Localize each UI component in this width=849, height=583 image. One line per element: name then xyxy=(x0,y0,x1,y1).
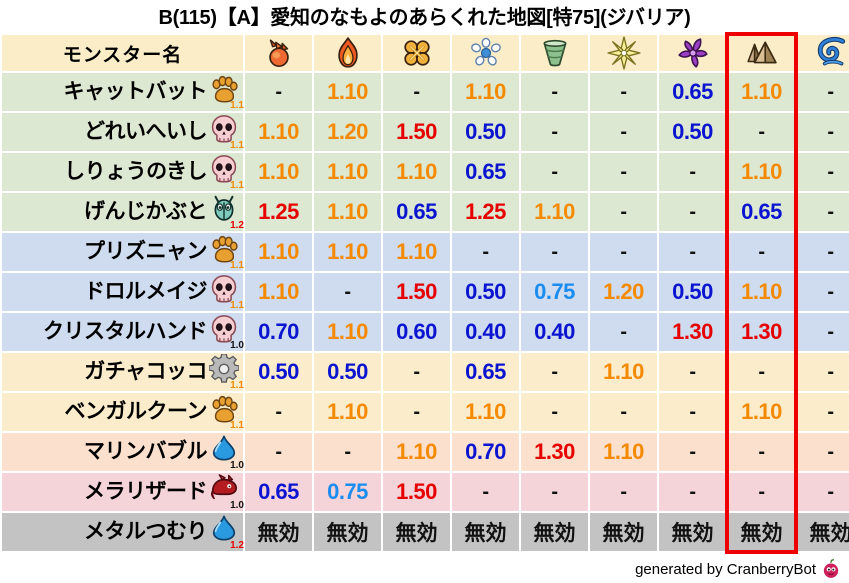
resistance-cell: 1.30 xyxy=(728,313,795,351)
monster-name-cell[interactable]: メラリザード 1.0 xyxy=(2,473,243,511)
resistance-cell: 1.10 xyxy=(728,153,795,191)
resistance-cell: - xyxy=(797,353,849,391)
monster-name-label: キャットバット xyxy=(64,73,208,111)
monster-name-cell[interactable]: どれいへいし 1.1 xyxy=(2,113,243,151)
resistance-cell: 1.25 xyxy=(452,193,519,231)
resistance-cell: - xyxy=(659,153,726,191)
table-row: プリズニャン 1.11.101.101.10------ xyxy=(2,233,849,271)
footer-text: generated by CranberryBot xyxy=(635,561,816,578)
monster-name-cell[interactable]: プリズニャン 1.1 xyxy=(2,233,243,271)
monster-family-badge: 1.0 xyxy=(209,435,243,469)
resistance-cell: 0.50 xyxy=(314,353,381,391)
resistance-cell: 1.30 xyxy=(659,313,726,351)
table-row: しりょうのきし 1.11.101.101.100.65---1.10- xyxy=(2,153,849,191)
resistance-cell: - xyxy=(245,433,312,471)
resistance-cell: 1.10 xyxy=(728,73,795,111)
table-header-row: モンスター名 xyxy=(2,35,849,71)
resistance-cell: 1.50 xyxy=(383,113,450,151)
table-row: クリスタルハンド 1.00.701.100.600.400.40-1.301.3… xyxy=(2,313,849,351)
resistance-cell: 1.30 xyxy=(521,433,588,471)
monster-name-cell[interactable]: マリンバブル 1.0 xyxy=(2,433,243,471)
monster-version-label: 1.1 xyxy=(230,301,244,311)
resistance-cell: - xyxy=(659,473,726,511)
monster-name-label: ベンガルクーン xyxy=(65,393,207,431)
resistance-cell: - xyxy=(452,473,519,511)
explosion-icon xyxy=(400,36,434,70)
monster-name-cell[interactable]: クリスタルハンド 1.0 xyxy=(2,313,243,351)
resistance-cell: - xyxy=(245,73,312,111)
column-header-ice[interactable] xyxy=(452,35,519,71)
resistance-cell: - xyxy=(521,353,588,391)
resistance-cell: 1.10 xyxy=(590,353,657,391)
resistance-cell: - xyxy=(590,113,657,151)
table-row: げんじかぶと 1.21.251.100.651.251.10--0.65- xyxy=(2,193,849,231)
resistance-cell: 0.65 xyxy=(659,73,726,111)
monster-version-label: 1.1 xyxy=(230,421,244,431)
column-header-flame[interactable] xyxy=(314,35,381,71)
column-header-meteor[interactable] xyxy=(245,35,312,71)
resistance-cell: - xyxy=(728,113,795,151)
column-header-wind[interactable] xyxy=(521,35,588,71)
resistance-cell: - xyxy=(521,73,588,111)
resistance-cell: - xyxy=(590,233,657,271)
resistance-cell: - xyxy=(383,353,450,391)
table-row: メタルつむり 1.2無効無効無効無効無効無効無効無効無効 xyxy=(2,513,849,551)
resistance-cell: - xyxy=(452,233,519,271)
resistance-cell: 無効 xyxy=(521,513,588,551)
resistance-cell: 1.50 xyxy=(383,273,450,311)
monster-name-label: メラリザード xyxy=(84,473,207,511)
monster-name-label: クリスタルハンド xyxy=(43,313,207,351)
dark-icon xyxy=(676,36,710,70)
resistance-cell: - xyxy=(797,473,849,511)
resistance-cell: - xyxy=(521,393,588,431)
resistance-cell: 無効 xyxy=(590,513,657,551)
monster-name-label: しりょうのきし xyxy=(64,153,207,191)
resistance-cell: - xyxy=(728,433,795,471)
resistance-cell: - xyxy=(521,473,588,511)
resistance-cell: 1.10 xyxy=(314,393,381,431)
table-row: ベンガルクーン 1.1-1.10-1.10---1.10- xyxy=(2,393,849,431)
resistance-cell: 無効 xyxy=(452,513,519,551)
resistance-cell: 0.50 xyxy=(452,113,519,151)
monster-version-label: 1.2 xyxy=(230,221,244,231)
resistance-cell: - xyxy=(521,153,588,191)
monster-name-cell[interactable]: ベンガルクーン 1.1 xyxy=(2,393,243,431)
resistance-cell: 0.65 xyxy=(728,193,795,231)
resistance-cell: 無効 xyxy=(797,513,849,551)
table-row: どれいへいし 1.11.101.201.500.50--0.50-- xyxy=(2,113,849,151)
monster-family-badge: 1.1 xyxy=(209,395,243,429)
monster-name-label: ガチャコッコ xyxy=(84,353,207,391)
resistance-cell: 1.10 xyxy=(383,433,450,471)
resistance-cell: - xyxy=(383,73,450,111)
resistance-cell: 0.70 xyxy=(452,433,519,471)
resistance-cell: 無効 xyxy=(314,513,381,551)
wind-icon xyxy=(538,36,572,70)
resistance-cell: 1.10 xyxy=(245,233,312,271)
element-resistance-chart: B(115)【A】愛知のなもよのあらくれた地図[特75](ジバリア) モンスター… xyxy=(0,0,849,583)
resistance-cell: 無効 xyxy=(383,513,450,551)
resistance-cell: 1.10 xyxy=(521,193,588,231)
resistance-cell: 無効 xyxy=(728,513,795,551)
resistance-cell: 0.50 xyxy=(659,273,726,311)
resistance-cell: 1.10 xyxy=(728,273,795,311)
resistance-cell: - xyxy=(383,393,450,431)
resistance-cell: - xyxy=(659,353,726,391)
water-icon xyxy=(814,36,848,70)
resistance-cell: 1.10 xyxy=(314,193,381,231)
resistance-cell: 1.10 xyxy=(314,153,381,191)
resistance-cell: - xyxy=(314,273,381,311)
resistance-cell: - xyxy=(521,113,588,151)
monster-version-label: 1.1 xyxy=(230,181,244,191)
resistance-cell: - xyxy=(590,313,657,351)
monster-name-cell[interactable]: げんじかぶと 1.2 xyxy=(2,193,243,231)
column-header-water[interactable] xyxy=(797,35,849,71)
resistance-cell: 1.10 xyxy=(245,273,312,311)
resistance-cell: - xyxy=(797,193,849,231)
monster-name-cell[interactable]: ガチャコッコ 1.1 xyxy=(2,353,243,391)
monster-version-label: 1.0 xyxy=(230,341,244,351)
resistance-cell: - xyxy=(797,393,849,431)
ice-icon xyxy=(469,36,503,70)
table-row: ドロルメイジ 1.11.10-1.500.500.751.200.501.10- xyxy=(2,273,849,311)
resistance-cell: 1.10 xyxy=(245,113,312,151)
resistance-cell: 0.65 xyxy=(452,153,519,191)
monster-family-badge: 1.2 xyxy=(209,195,243,229)
resistance-cell: 1.10 xyxy=(728,393,795,431)
resistance-cell: - xyxy=(797,73,849,111)
monster-name-cell[interactable]: しりょうのきし 1.1 xyxy=(2,153,243,191)
resistance-cell: 0.65 xyxy=(245,473,312,511)
monster-family-badge: 1.1 xyxy=(209,235,243,269)
monster-name-label: ドロルメイジ xyxy=(84,273,207,311)
monster-family-badge: 1.1 xyxy=(209,115,243,149)
resistance-cell: - xyxy=(728,233,795,271)
monster-version-label: 1.1 xyxy=(230,141,244,151)
resistance-cell: 1.25 xyxy=(245,193,312,231)
resistance-cell: 0.75 xyxy=(521,273,588,311)
monster-version-label: 1.0 xyxy=(230,461,244,471)
monster-family-badge: 1.1 xyxy=(209,355,243,389)
flame-icon xyxy=(331,36,365,70)
resistance-cell: - xyxy=(590,153,657,191)
resistance-cell: 0.50 xyxy=(245,353,312,391)
monster-name-cell[interactable]: ドロルメイジ 1.1 xyxy=(2,273,243,311)
table-row: マリンバブル 1.0--1.100.701.301.10--- xyxy=(2,433,849,471)
column-header-earth[interactable] xyxy=(728,35,795,71)
resistance-cell: - xyxy=(797,233,849,271)
monster-version-label: 1.0 xyxy=(230,501,244,511)
meteor-icon xyxy=(262,36,296,70)
table-row: キャットバット 1.1-1.10-1.10--0.651.10- xyxy=(2,73,849,111)
resistance-cell: 0.65 xyxy=(383,193,450,231)
resistance-cell: 0.75 xyxy=(314,473,381,511)
monster-family-badge: 1.2 xyxy=(209,515,243,549)
resistance-cell: 0.65 xyxy=(452,353,519,391)
resistance-cell: - xyxy=(590,473,657,511)
resistance-cell: 1.50 xyxy=(383,473,450,511)
monster-family-badge: 1.0 xyxy=(209,315,243,349)
resistance-cell: 1.10 xyxy=(245,153,312,191)
monster-version-label: 1.2 xyxy=(230,541,244,551)
column-header-monster-name: モンスター名 xyxy=(2,35,243,71)
resistance-cell: 0.60 xyxy=(383,313,450,351)
resistance-cell: - xyxy=(728,353,795,391)
resistance-cell: - xyxy=(659,233,726,271)
column-header-explosion[interactable] xyxy=(383,35,450,71)
monster-name-label: げんじかぶと xyxy=(84,193,207,231)
resistance-cell: - xyxy=(314,433,381,471)
resistance-cell: - xyxy=(797,113,849,151)
resistance-cell: 0.50 xyxy=(659,113,726,151)
monster-name-cell[interactable]: キャットバット 1.1 xyxy=(2,73,243,111)
resistance-table: モンスター名 xyxy=(0,33,849,553)
light-icon xyxy=(607,36,641,70)
monster-name-label: プリズニャン xyxy=(84,233,207,271)
resistance-cell: 1.10 xyxy=(314,233,381,271)
monster-family-badge: 1.1 xyxy=(209,275,243,309)
monster-name-label: どれいへいし xyxy=(84,113,207,151)
resistance-cell: 1.10 xyxy=(314,313,381,351)
resistance-cell: 1.10 xyxy=(314,73,381,111)
resistance-cell: - xyxy=(590,73,657,111)
footer-credit: generated by CranberryBot xyxy=(635,559,841,579)
resistance-cell: 1.20 xyxy=(314,113,381,151)
resistance-cell: 0.40 xyxy=(521,313,588,351)
monster-version-label: 1.1 xyxy=(230,101,244,111)
resistance-cell: - xyxy=(728,473,795,511)
resistance-cell: 1.10 xyxy=(383,233,450,271)
resistance-cell: 無効 xyxy=(245,513,312,551)
resistance-cell: - xyxy=(797,273,849,311)
monster-name-cell[interactable]: メタルつむり 1.2 xyxy=(2,513,243,551)
resistance-cell: 1.10 xyxy=(452,393,519,431)
table-body: キャットバット 1.1-1.10-1.10--0.651.10-どれいへいし 1… xyxy=(2,73,849,551)
resistance-cell: 0.50 xyxy=(452,273,519,311)
resistance-cell: - xyxy=(797,433,849,471)
resistance-cell: - xyxy=(245,393,312,431)
resistance-cell: 1.10 xyxy=(452,73,519,111)
table-row: ガチャコッコ 1.10.500.50-0.65-1.10--- xyxy=(2,353,849,391)
page-title: B(115)【A】愛知のなもよのあらくれた地図[特75](ジバリア) xyxy=(0,0,849,33)
monster-name-label: メタルつむり xyxy=(84,513,207,551)
resistance-cell: - xyxy=(797,153,849,191)
monster-family-badge: 1.0 xyxy=(209,475,243,509)
resistance-cell: - xyxy=(659,193,726,231)
column-header-light[interactable] xyxy=(590,35,657,71)
cranberry-icon xyxy=(821,559,841,579)
resistance-cell: - xyxy=(659,433,726,471)
resistance-cell: 0.40 xyxy=(452,313,519,351)
resistance-cell: - xyxy=(659,393,726,431)
resistance-cell: - xyxy=(590,393,657,431)
resistance-cell: 無効 xyxy=(659,513,726,551)
resistance-cell: 0.70 xyxy=(245,313,312,351)
monster-name-label: マリンバブル xyxy=(84,433,207,471)
monster-version-label: 1.1 xyxy=(230,381,244,391)
resistance-cell: - xyxy=(797,313,849,351)
resistance-cell: 1.10 xyxy=(590,433,657,471)
column-header-dark[interactable] xyxy=(659,35,726,71)
monster-version-label: 1.1 xyxy=(230,261,244,271)
resistance-cell: - xyxy=(590,193,657,231)
resistance-cell: - xyxy=(521,233,588,271)
resistance-cell: 1.10 xyxy=(383,153,450,191)
monster-family-badge: 1.1 xyxy=(209,75,243,109)
table-row: メラリザード 1.00.650.751.50------ xyxy=(2,473,849,511)
resistance-cell: 1.20 xyxy=(590,273,657,311)
monster-family-badge: 1.1 xyxy=(209,155,243,189)
earth-icon xyxy=(745,36,779,70)
